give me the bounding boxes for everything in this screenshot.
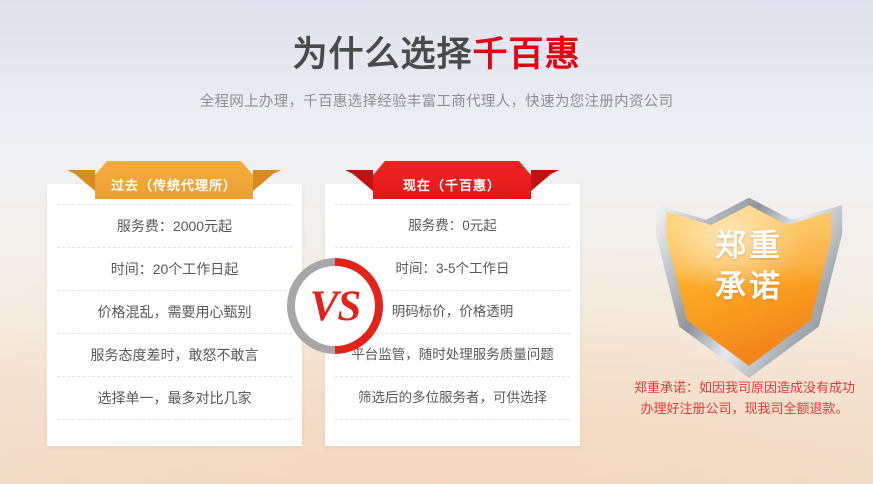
list-item: 时间：20个工作日起 <box>57 248 292 291</box>
list-item: 价格混乱，需要用心甄别 <box>57 291 292 334</box>
list-item: 筛选后的多位服务者，可供选择 <box>335 377 570 420</box>
ribbon-past: 过去（传统代理所） <box>81 161 267 199</box>
page-subtitle: 全程网上办理，千百惠选择经验丰富工商代理人，快速为您注册内资公司 <box>0 75 873 111</box>
shield-icon: 郑重 承诺 <box>652 194 846 378</box>
vs-label: VS <box>310 285 361 328</box>
shield-label-line2: 承诺 <box>652 267 846 308</box>
promise-line-2: 办理好注册公司，现我司全额退款。 <box>612 398 873 419</box>
comparison-card-past: 服务费：2000元起 时间：20个工作日起 价格混乱，需要用心甄别 服务态度差时… <box>47 184 302 446</box>
list-item: 平台监管，随时处理服务质量问题 <box>335 334 570 377</box>
page-title-main: 为什么选择 <box>292 35 472 74</box>
ribbon-now-label: 现在（千百惠） <box>403 166 501 194</box>
promise-line-1: 郑重承诺：如因我司原因造成没有成功 <box>612 377 873 398</box>
page-title: 为什么选择千百惠 <box>0 0 873 75</box>
vs-badge: VS <box>287 258 383 354</box>
ribbon-past-label: 过去（传统代理所） <box>111 166 237 194</box>
ribbon-past-body: 过去（传统代理所） <box>95 161 253 199</box>
past-row-list: 服务费：2000元起 时间：20个工作日起 价格混乱，需要用心甄别 服务态度差时… <box>57 204 292 434</box>
promo-banner: 为什么选择千百惠 全程网上办理，千百惠选择经验丰富工商代理人，快速为您注册内资公… <box>0 0 873 484</box>
page-title-brand: 千百惠 <box>473 35 581 74</box>
shield-label-line1: 郑重 <box>652 226 846 267</box>
list-item: 服务费：2000元起 <box>57 204 292 248</box>
list-item: 服务态度差时，敢怒不敢言 <box>57 334 292 377</box>
ribbon-now: 现在（千百惠） <box>359 161 545 199</box>
banner-header: 为什么选择千百惠 全程网上办理，千百惠选择经验丰富工商代理人，快速为您注册内资公… <box>0 0 873 111</box>
promise-text: 郑重承诺：如因我司原因造成没有成功 办理好注册公司，现我司全额退款。 <box>612 377 873 420</box>
list-item: 选择单一，最多对比几家 <box>57 377 292 420</box>
list-item: 服务费：0元起 <box>335 204 570 248</box>
ribbon-now-body: 现在（千百惠） <box>373 161 531 199</box>
shield-label: 郑重 承诺 <box>652 226 846 308</box>
